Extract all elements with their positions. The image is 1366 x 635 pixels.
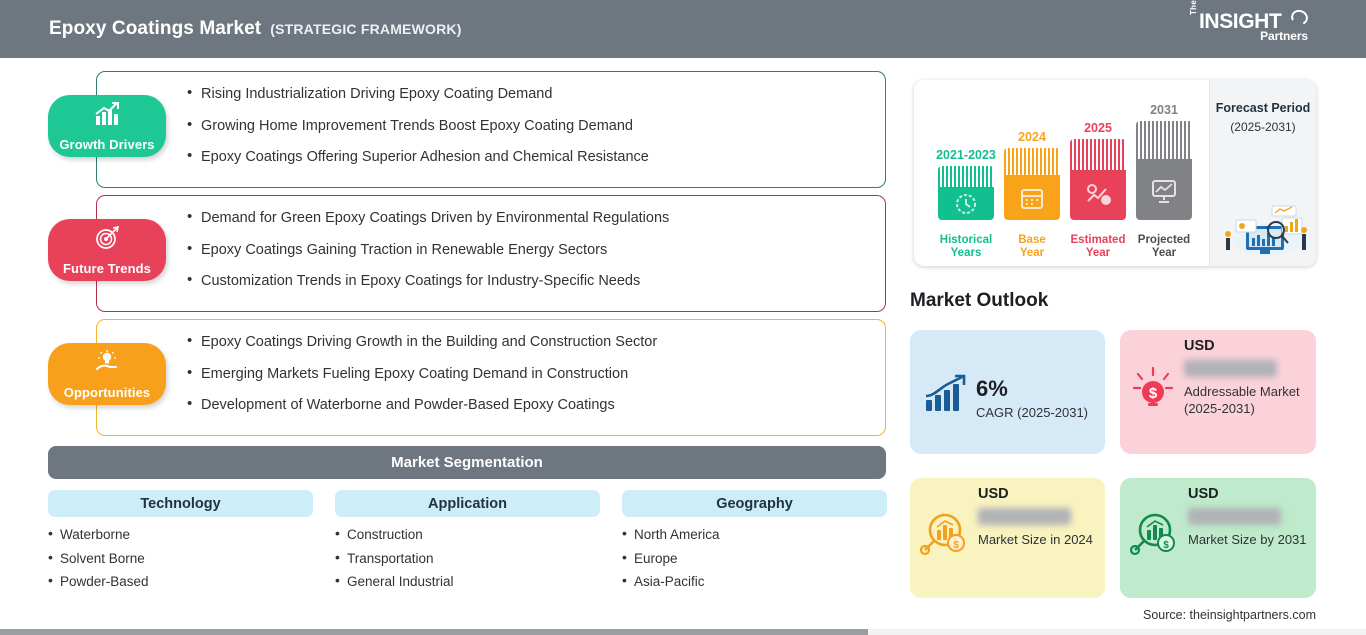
bar-stripe-top	[1070, 139, 1126, 170]
forecast-period-panel: Forecast Period (2025-2031)	[1209, 80, 1316, 266]
analytics-illustration-icon	[1216, 196, 1312, 258]
bar-shape	[1004, 148, 1060, 220]
history-clock-icon	[952, 190, 980, 218]
target-dart-icon	[93, 225, 121, 251]
horizontal-scrollbar-thumb[interactable]	[0, 629, 868, 635]
currency-label: USD	[978, 486, 1097, 502]
bar-stripe-top	[1136, 121, 1192, 159]
currency-label: USD	[1188, 486, 1308, 502]
redacted-value: lorem ipsum	[1188, 508, 1281, 525]
badge-opportunities[interactable]: Opportunities	[48, 343, 166, 405]
segment-header-label: Application	[335, 490, 600, 517]
bar-year-label: 2031	[1150, 103, 1178, 117]
outlook-card-market-size-2024[interactable]: $ USD lorem ipsum Market Size in 2024	[910, 478, 1105, 598]
segment-item-list: Waterborne Solvent Borne Powder-Based	[48, 528, 313, 589]
list-item: Asia-Pacific	[622, 575, 887, 589]
logo-the-text: The	[1190, 0, 1198, 15]
bar-year-label: 2025	[1084, 121, 1112, 135]
list-item: North America	[622, 528, 887, 542]
growth-bar-chart-icon	[924, 374, 968, 414]
card-caption: Market Size in 2024	[978, 532, 1097, 549]
cagr-caption: CAGR (2025-2031)	[976, 405, 1088, 422]
lightbulb-hand-icon	[93, 349, 121, 375]
outlook-card-cagr[interactable]: 6% CAGR (2025-2031)	[910, 330, 1105, 454]
segment-item-list: Construction Transportation General Indu…	[335, 528, 600, 589]
forecast-period-chart: 2021-2023Historical Years2024Base Year20…	[914, 80, 1316, 266]
cagr-value: 6%	[976, 376, 1088, 402]
estimate-chart-icon	[1084, 181, 1112, 209]
bar-caption: Base Year	[1018, 234, 1046, 260]
lightbulb-dollar-icon: $	[1132, 366, 1174, 414]
forecast-period-range: (2025-2031)	[1210, 120, 1316, 134]
segment-item-list: North America Europe Asia-Pacific	[622, 528, 887, 589]
currency-label: USD	[1184, 338, 1308, 354]
insight-partners-logo[interactable]: The INSIGHT Partners	[1190, 9, 1310, 49]
list-item: Europe	[622, 552, 887, 566]
bar-caption: Historical Years	[940, 234, 992, 260]
market-outlook-title: Market Outlook	[910, 290, 1048, 312]
segmentation-column-application: Application Construction Transportation …	[335, 490, 600, 599]
forecast-period-title: Forecast Period	[1210, 100, 1316, 117]
list-item: Waterborne	[48, 528, 313, 542]
segmentation-column-technology: Technology Waterborne Solvent Borne Powd…	[48, 490, 313, 599]
bar-solid-body	[938, 187, 994, 220]
logo-swoosh-icon	[1289, 8, 1310, 28]
horizontal-scrollbar-track[interactable]	[0, 629, 1366, 635]
svg-text:$: $	[953, 540, 959, 551]
badge-future-trends[interactable]: Future Trends	[48, 219, 166, 281]
list-item: Demand for Green Epoxy Coatings Driven b…	[187, 209, 871, 227]
card-caption: Addressable Market (2025-2031)	[1184, 384, 1308, 418]
bar-solid-body	[1136, 159, 1192, 220]
bar-year-label: 2024	[1018, 130, 1046, 144]
page-title: Epoxy Coatings Market	[49, 18, 261, 40]
segmentation-column-geography: Geography North America Europe Asia-Paci…	[622, 490, 887, 599]
market-framework-infographic: Epoxy Coatings Market (STRATEGIC FRAMEWO…	[0, 0, 1366, 635]
left-column: Rising Industrialization Driving Epoxy C…	[0, 58, 900, 635]
badge-label: Growth Drivers	[59, 137, 154, 152]
list-item: Rising Industrialization Driving Epoxy C…	[187, 85, 871, 103]
bar-solid-body	[1004, 175, 1060, 220]
market-segmentation-header: Market Segmentation	[48, 446, 886, 479]
outlook-card-addressable-market[interactable]: $ USD lorem ipsum Addressable Market (20…	[1120, 330, 1316, 454]
future-trends-list: Demand for Green Epoxy Coatings Driven b…	[187, 209, 871, 290]
growth-drivers-panel: Rising Industrialization Driving Epoxy C…	[96, 71, 886, 188]
magnifier-bar-dollar-icon: $	[920, 510, 968, 556]
source-attribution: Source: theinsightpartners.com	[1143, 608, 1316, 622]
list-item: Epoxy Coatings Driving Growth in the Bui…	[187, 333, 871, 351]
bar-shape	[938, 166, 994, 220]
redacted-value: lorem ipsum	[1184, 360, 1277, 377]
future-trends-panel: Demand for Green Epoxy Coatings Driven b…	[96, 195, 886, 312]
page-header: Epoxy Coatings Market (STRATEGIC FRAMEWO…	[0, 0, 1366, 58]
list-item: Emerging Markets Fueling Epoxy Coating D…	[187, 365, 871, 383]
svg-text:$: $	[1163, 540, 1169, 551]
list-item: Transportation	[335, 552, 600, 566]
forecast-bars: 2021-2023Historical Years2024Base Year20…	[914, 80, 1209, 266]
page-subtitle: (STRATEGIC FRAMEWORK)	[270, 21, 461, 37]
opportunities-list: Epoxy Coatings Driving Growth in the Bui…	[187, 333, 871, 414]
bar-stripe-top	[938, 166, 994, 187]
outlook-card-market-size-2031[interactable]: $ USD lorem ipsum Market Size by 2031	[1120, 478, 1316, 598]
bar-year-label: 2021-2023	[936, 148, 996, 162]
right-column: 2021-2023Historical Years2024Base Year20…	[900, 58, 1366, 635]
bar-solid-body	[1070, 170, 1126, 220]
bar-shape	[1070, 139, 1126, 220]
segment-header-label: Geography	[622, 490, 887, 517]
list-item: General Industrial	[335, 575, 600, 589]
list-item: Growing Home Improvement Trends Boost Ep…	[187, 117, 871, 135]
projection-screen-icon	[1150, 176, 1178, 204]
badge-growth-drivers[interactable]: Growth Drivers	[48, 95, 166, 157]
card-caption: Market Size by 2031	[1188, 532, 1308, 549]
bar-caption: Estimated Year	[1071, 234, 1126, 260]
growth-drivers-list: Rising Industrialization Driving Epoxy C…	[187, 85, 871, 166]
market-segmentation-title: Market Segmentation	[391, 454, 543, 471]
bar-caption: Projected Year	[1138, 234, 1190, 260]
bar-chart-arrow-icon	[93, 101, 121, 127]
logo-partners-text: Partners	[1260, 30, 1308, 42]
svg-text:$: $	[1149, 385, 1158, 402]
redacted-value: lorem ipsum	[978, 508, 1071, 525]
list-item: Development of Waterborne and Powder-Bas…	[187, 396, 871, 414]
bar-shape	[1136, 121, 1192, 220]
badge-label: Opportunities	[64, 385, 151, 400]
list-item: Epoxy Coatings Offering Superior Adhesio…	[187, 148, 871, 166]
segment-header-label: Technology	[48, 490, 313, 517]
opportunities-panel: Epoxy Coatings Driving Growth in the Bui…	[96, 319, 886, 436]
magnifier-bar-dollar-icon: $	[1130, 510, 1178, 556]
list-item: Powder-Based	[48, 575, 313, 589]
list-item: Epoxy Coatings Gaining Traction in Renew…	[187, 241, 871, 259]
calendar-icon	[1018, 184, 1046, 212]
badge-label: Future Trends	[63, 261, 151, 276]
list-item: Construction	[335, 528, 600, 542]
bar-stripe-top	[1004, 148, 1060, 175]
list-item: Customization Trends in Epoxy Coatings f…	[187, 272, 871, 290]
list-item: Solvent Borne	[48, 552, 313, 566]
